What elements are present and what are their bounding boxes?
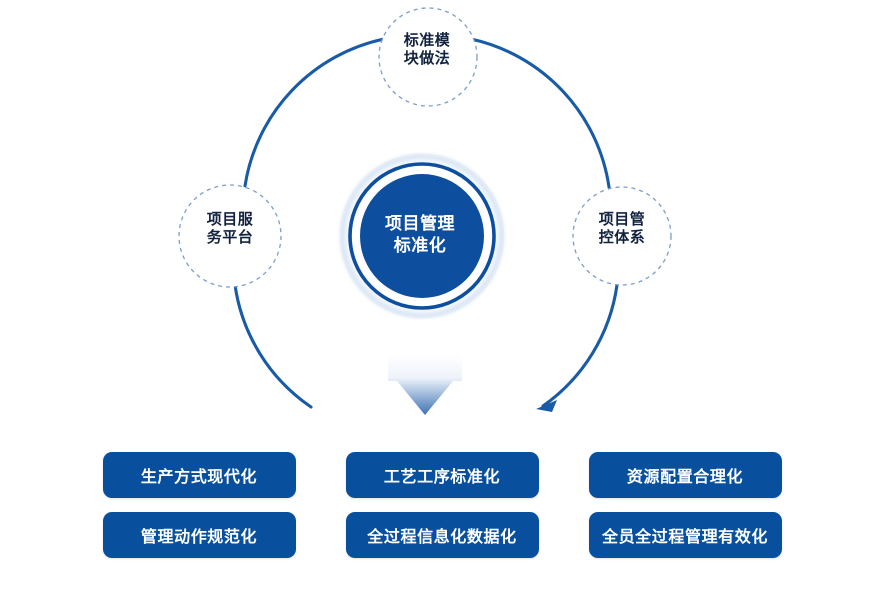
arc-left-top xyxy=(245,39,384,186)
outcome-box-row: 生产方式现代化 工艺工序标准化 资源配置合理化 xyxy=(0,452,884,498)
outcome-box[interactable]: 全过程信息化数据化 xyxy=(346,512,539,558)
outcome-box[interactable]: 资源配置合理化 xyxy=(589,452,782,498)
outcome-box[interactable]: 全员全过程管理有效化 xyxy=(589,512,782,558)
outcome-box-row: 管理动作规范化 全过程信息化数据化 全员全过程管理有效化 xyxy=(0,512,884,558)
center-node-group[interactable] xyxy=(336,150,508,322)
outcome-box[interactable]: 管理动作规范化 xyxy=(103,512,296,558)
arc-right-bottom xyxy=(543,285,617,406)
arc-left-bottom xyxy=(235,285,311,407)
outcome-box-grid: 生产方式现代化 工艺工序标准化 资源配置合理化 管理动作规范化 全过程信息化数据… xyxy=(0,446,884,566)
diagram-canvas: 标准模 块做法 项目服 务平台 项目管 控体系 项目管理 标准化 生产方式现代化… xyxy=(0,0,884,590)
outcome-box[interactable]: 工艺工序标准化 xyxy=(346,452,539,498)
down-arrow xyxy=(388,355,462,415)
center-disc[interactable] xyxy=(360,174,484,298)
outcome-box[interactable]: 生产方式现代化 xyxy=(103,452,296,498)
satellite-circle-right[interactable] xyxy=(573,187,671,285)
arc-right-top xyxy=(471,39,609,187)
satellite-circle-left[interactable] xyxy=(179,185,281,287)
satellite-circle-top[interactable] xyxy=(379,8,477,106)
